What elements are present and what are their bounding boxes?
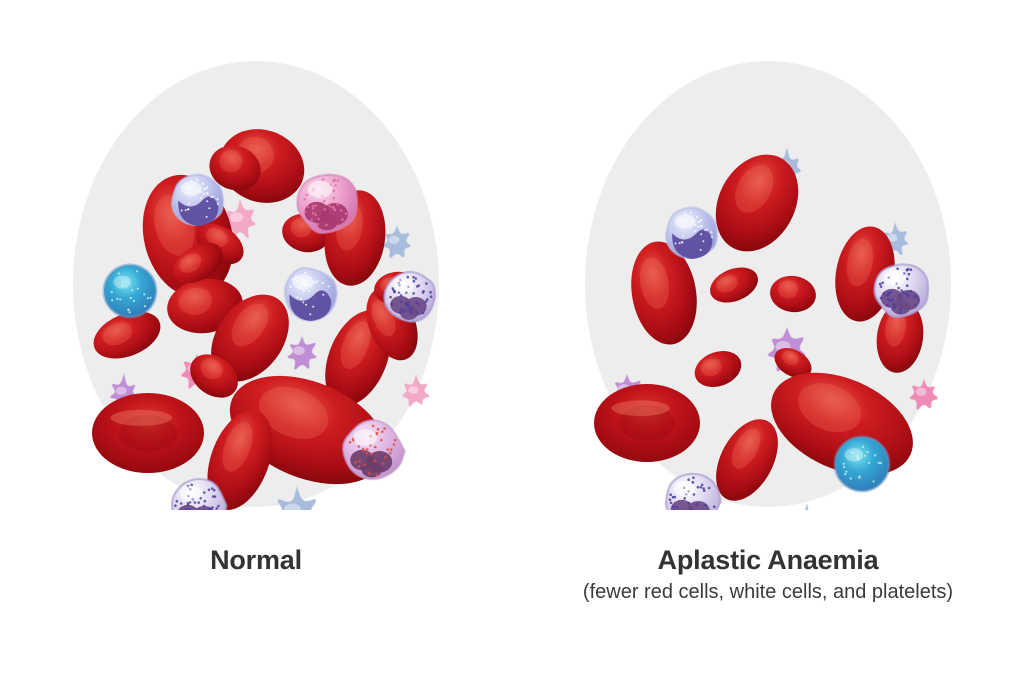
panel-title-aplastic-anaemia: Aplastic Anaemia (512, 543, 1024, 577)
blood-comparison-figure: Normal (0, 0, 1024, 683)
slide-aplastic-anaemia-svg (512, 58, 1024, 510)
panel-title-normal: Normal (0, 543, 512, 577)
white-blood-cell-lymphocyte (666, 208, 717, 259)
red-blood-cell (594, 384, 700, 462)
red-blood-cell (92, 393, 204, 473)
caption-aplastic-anaemia: Aplastic Anaemia (fewer red cells, white… (512, 543, 1024, 605)
panel-subtitle-aplastic-anaemia: (fewer red cells, white cells, and plate… (512, 579, 1024, 605)
white-blood-cell-basophil (104, 265, 156, 317)
white-blood-cell-lymphocyte (285, 268, 337, 321)
white-blood-cell-lymphocyte (172, 175, 223, 226)
slide-normal (0, 58, 512, 510)
white-blood-cell-neutrophil (384, 272, 435, 322)
red-blood-cell (723, 507, 773, 510)
platelet (794, 505, 821, 510)
panel-normal: Normal (0, 0, 512, 683)
caption-normal: Normal (0, 543, 512, 577)
panel-aplastic-anaemia: Aplastic Anaemia (fewer red cells, white… (512, 0, 1024, 683)
white-blood-cell-basophil (835, 437, 889, 491)
slide-aplastic-anaemia (512, 58, 1024, 510)
slide-normal-svg (0, 58, 512, 510)
